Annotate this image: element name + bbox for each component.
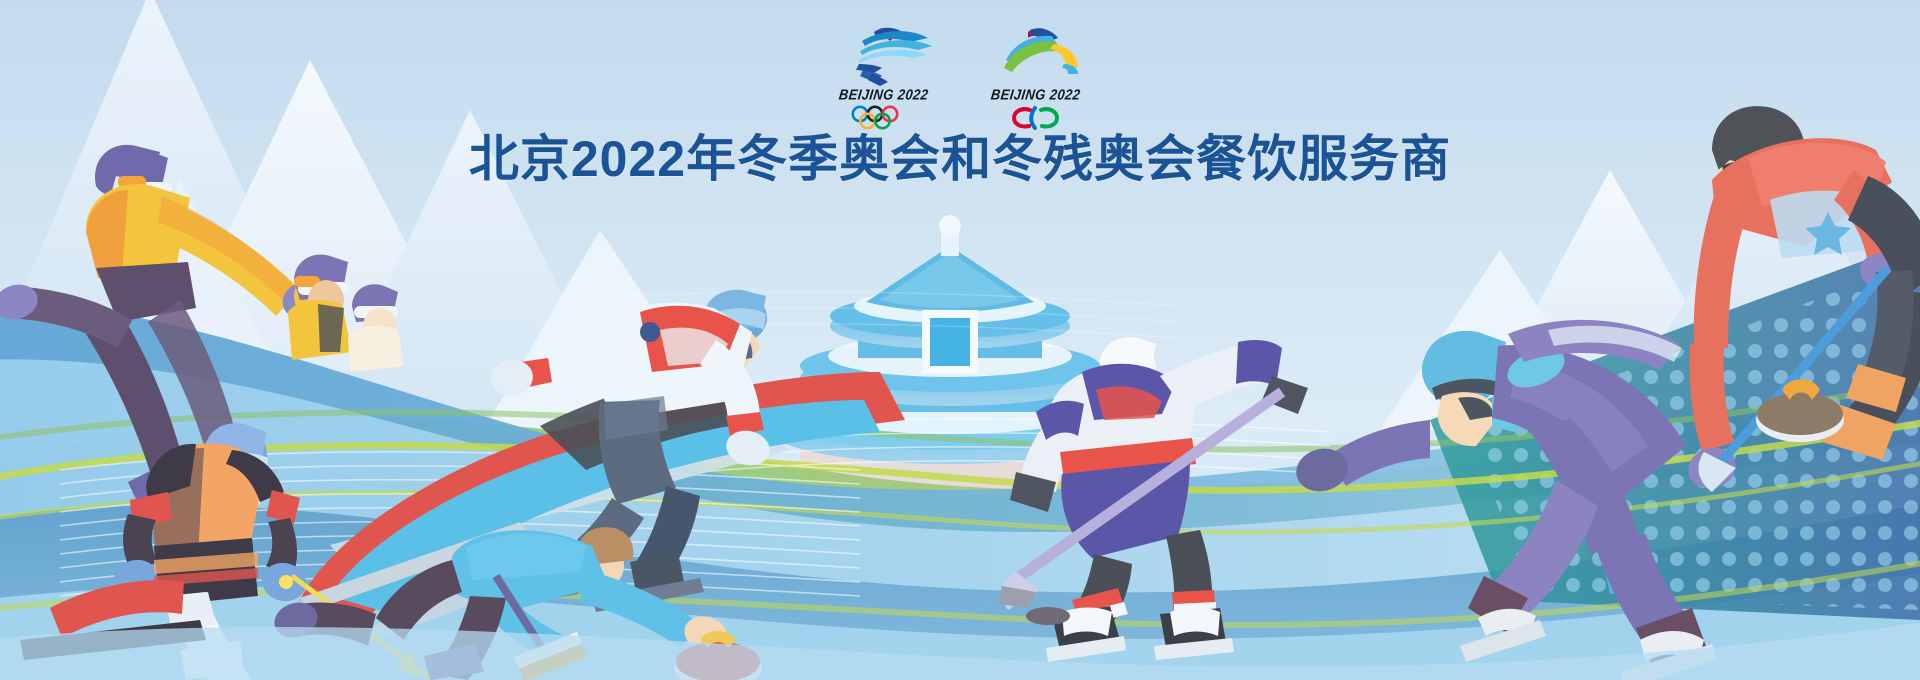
scene-illustration — [0, 0, 1920, 680]
beijing-2022-banner: BEIJING 2022 — [0, 0, 1920, 680]
bobsleigh-crew-1 — [288, 254, 352, 360]
